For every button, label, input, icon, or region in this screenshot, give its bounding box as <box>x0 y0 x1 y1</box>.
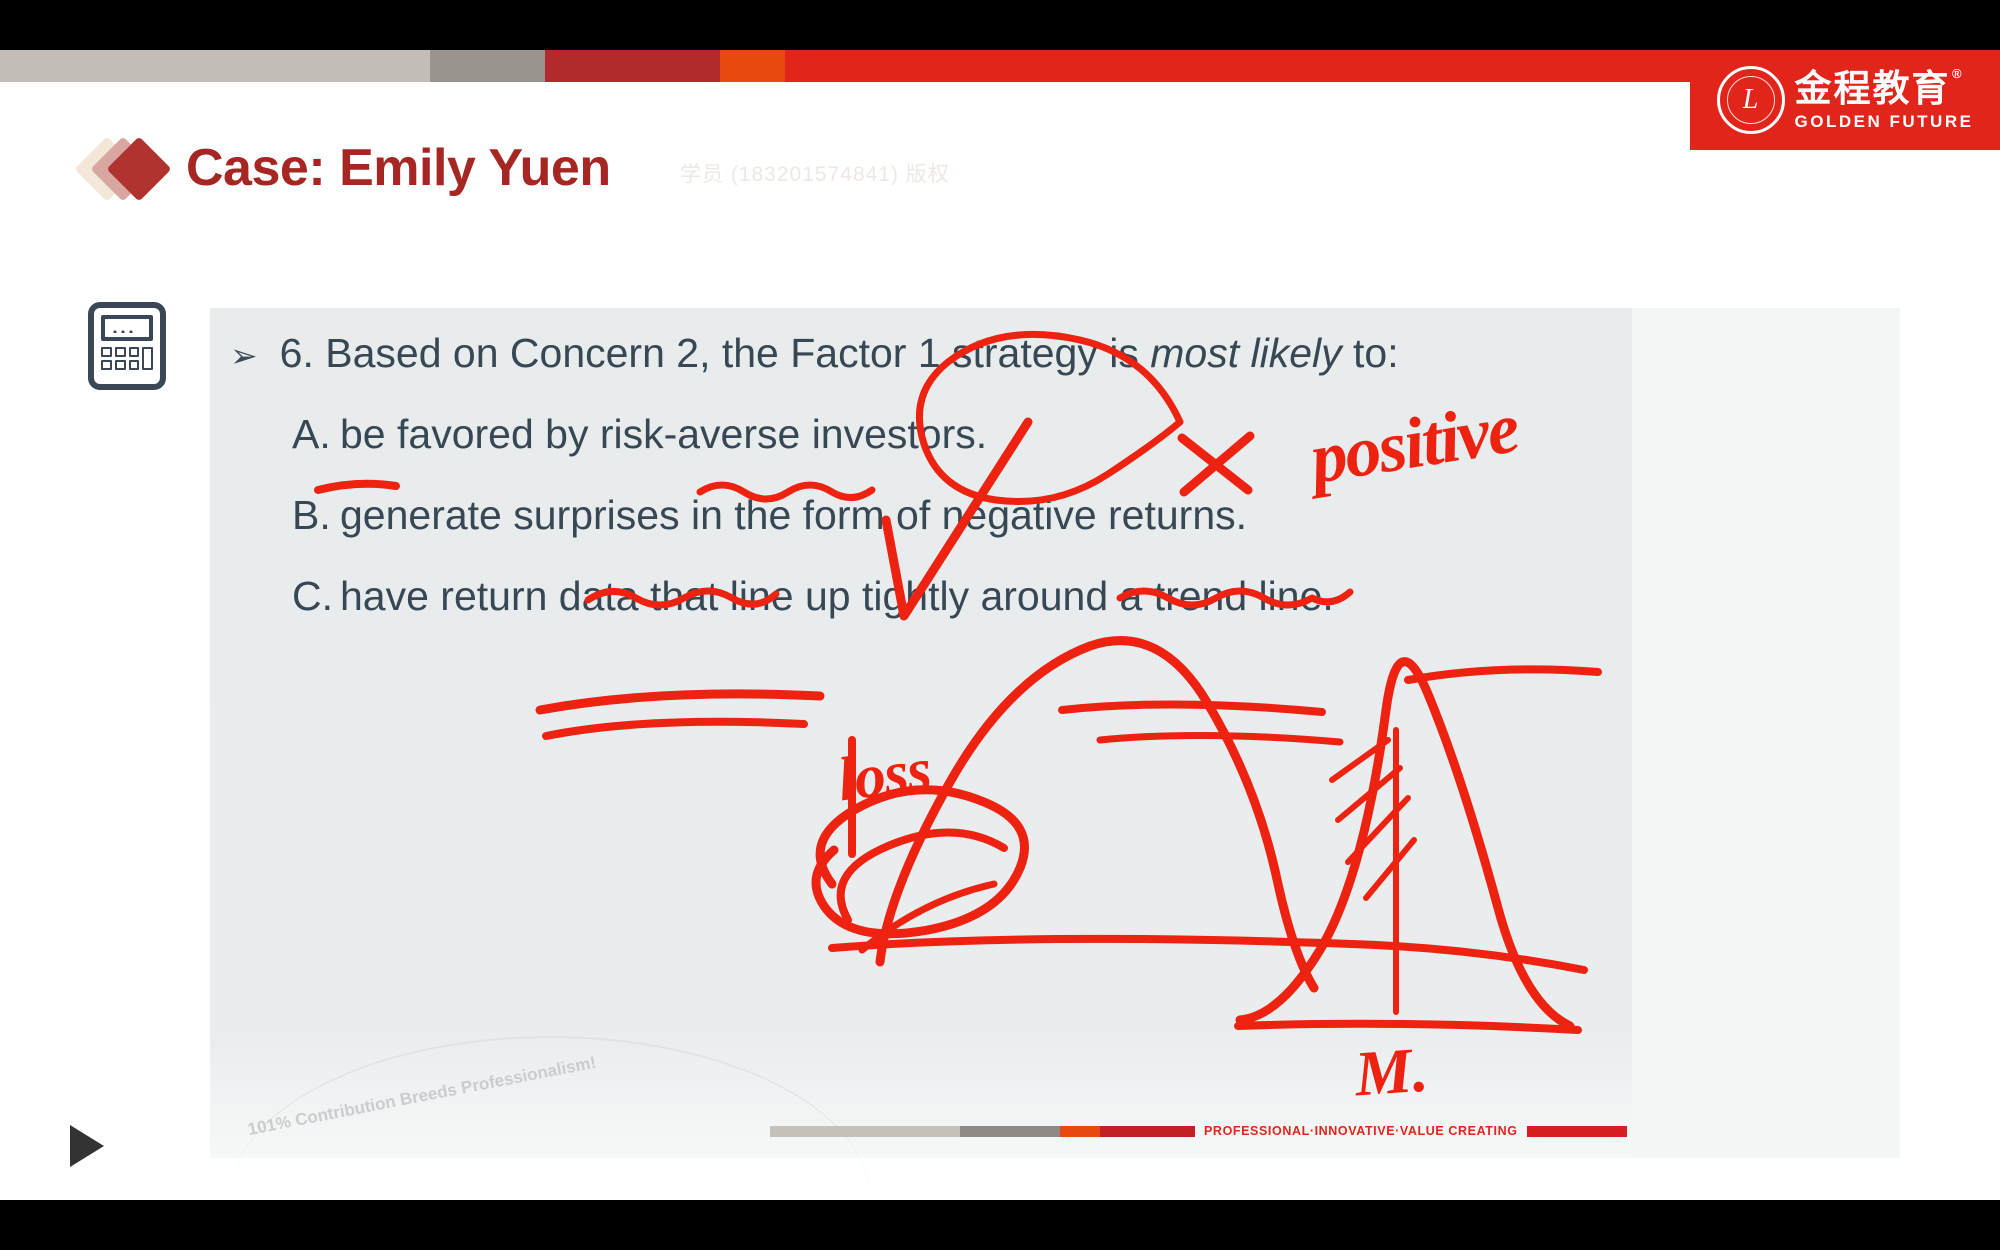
logo-monogram: L <box>1727 76 1775 124</box>
question-text-after: to: <box>1342 330 1399 376</box>
question-text: 6. Based on Concern 2, the Factor 1 stra… <box>280 330 1399 377</box>
page-title: Case: Emily Yuen <box>186 138 611 198</box>
option-c[interactable]: C.have return data that line up tightly … <box>292 573 1900 620</box>
video-slide-area[interactable]: L 金程教育® GOLDEN FUTURE Case: Emily Yuen 学… <box>0 50 2000 1200</box>
screen: L 金程教育® GOLDEN FUTURE Case: Emily Yuen 学… <box>0 0 2000 1250</box>
option-a-text: be favored by risk-averse investors. <box>340 411 987 457</box>
bullet-arrow-icon: ➢ <box>230 336 258 375</box>
footer-bar-seg <box>960 1126 1060 1137</box>
registered-mark: ® <box>1952 67 1964 80</box>
diamond-logo-icon <box>80 128 180 208</box>
question-text-before: Based on Concern 2, the Factor 1 strateg… <box>325 330 1150 376</box>
question-number: 6. <box>280 330 314 376</box>
option-b-text: generate surprises in the form of negati… <box>340 492 1247 538</box>
option-c-letter: C. <box>292 573 340 620</box>
topbar-segment-2 <box>545 50 720 82</box>
topbar-segment-0 <box>0 50 430 82</box>
footer-tagline: PROFESSIONAL·INNOVATIVE·VALUE CREATING <box>1204 1124 1518 1138</box>
annotation-loss: loss <box>834 735 934 817</box>
logo-chinese-name: 金程教育® <box>1795 70 1951 107</box>
title-row: Case: Emily Yuen <box>80 128 611 208</box>
slide-content-panel: ➢ 6. Based on Concern 2, the Factor 1 st… <box>210 308 1900 1158</box>
logo-text: 金程教育® GOLDEN FUTURE <box>1795 70 1974 130</box>
logo-english-name: GOLDEN FUTURE <box>1795 113 1974 130</box>
calculator-icon[interactable] <box>88 302 166 390</box>
footer-bar-seg <box>1100 1126 1195 1137</box>
question-emphasis: most likely <box>1150 330 1341 376</box>
topbar-segment-1 <box>430 50 545 82</box>
logo-chinese-label: 金程教育 <box>1795 68 1951 109</box>
footer-bar-seg <box>1060 1126 1100 1137</box>
logo-seal-icon: L <box>1717 66 1785 134</box>
footer-bar-seg <box>770 1126 960 1137</box>
watermark-text: 学员 (183201574841) 版权 <box>680 158 950 188</box>
option-a-letter: A. <box>292 411 340 458</box>
question-block: ➢ 6. Based on Concern 2, the Factor 1 st… <box>230 330 1900 620</box>
brand-logo: L 金程教育® GOLDEN FUTURE <box>1690 50 2000 150</box>
footer-bar-seg <box>1527 1126 1627 1137</box>
annotation-m: M. <box>1353 1033 1431 1112</box>
calculator-keys <box>101 347 153 370</box>
calculator-screen <box>101 315 153 341</box>
play-icon[interactable] <box>70 1125 104 1167</box>
option-b-letter: B. <box>292 492 340 539</box>
option-a[interactable]: A.be favored by risk-averse investors. <box>292 411 1900 458</box>
footer-color-bar: PROFESSIONAL·INNOVATIVE·VALUE CREATING <box>770 1124 1627 1138</box>
question-line: ➢ 6. Based on Concern 2, the Factor 1 st… <box>230 330 1900 377</box>
topbar-segment-3 <box>720 50 785 82</box>
option-c-text: have return data that line up tightly ar… <box>340 573 1334 619</box>
option-b[interactable]: B.generate surprises in the form of nega… <box>292 492 1900 539</box>
